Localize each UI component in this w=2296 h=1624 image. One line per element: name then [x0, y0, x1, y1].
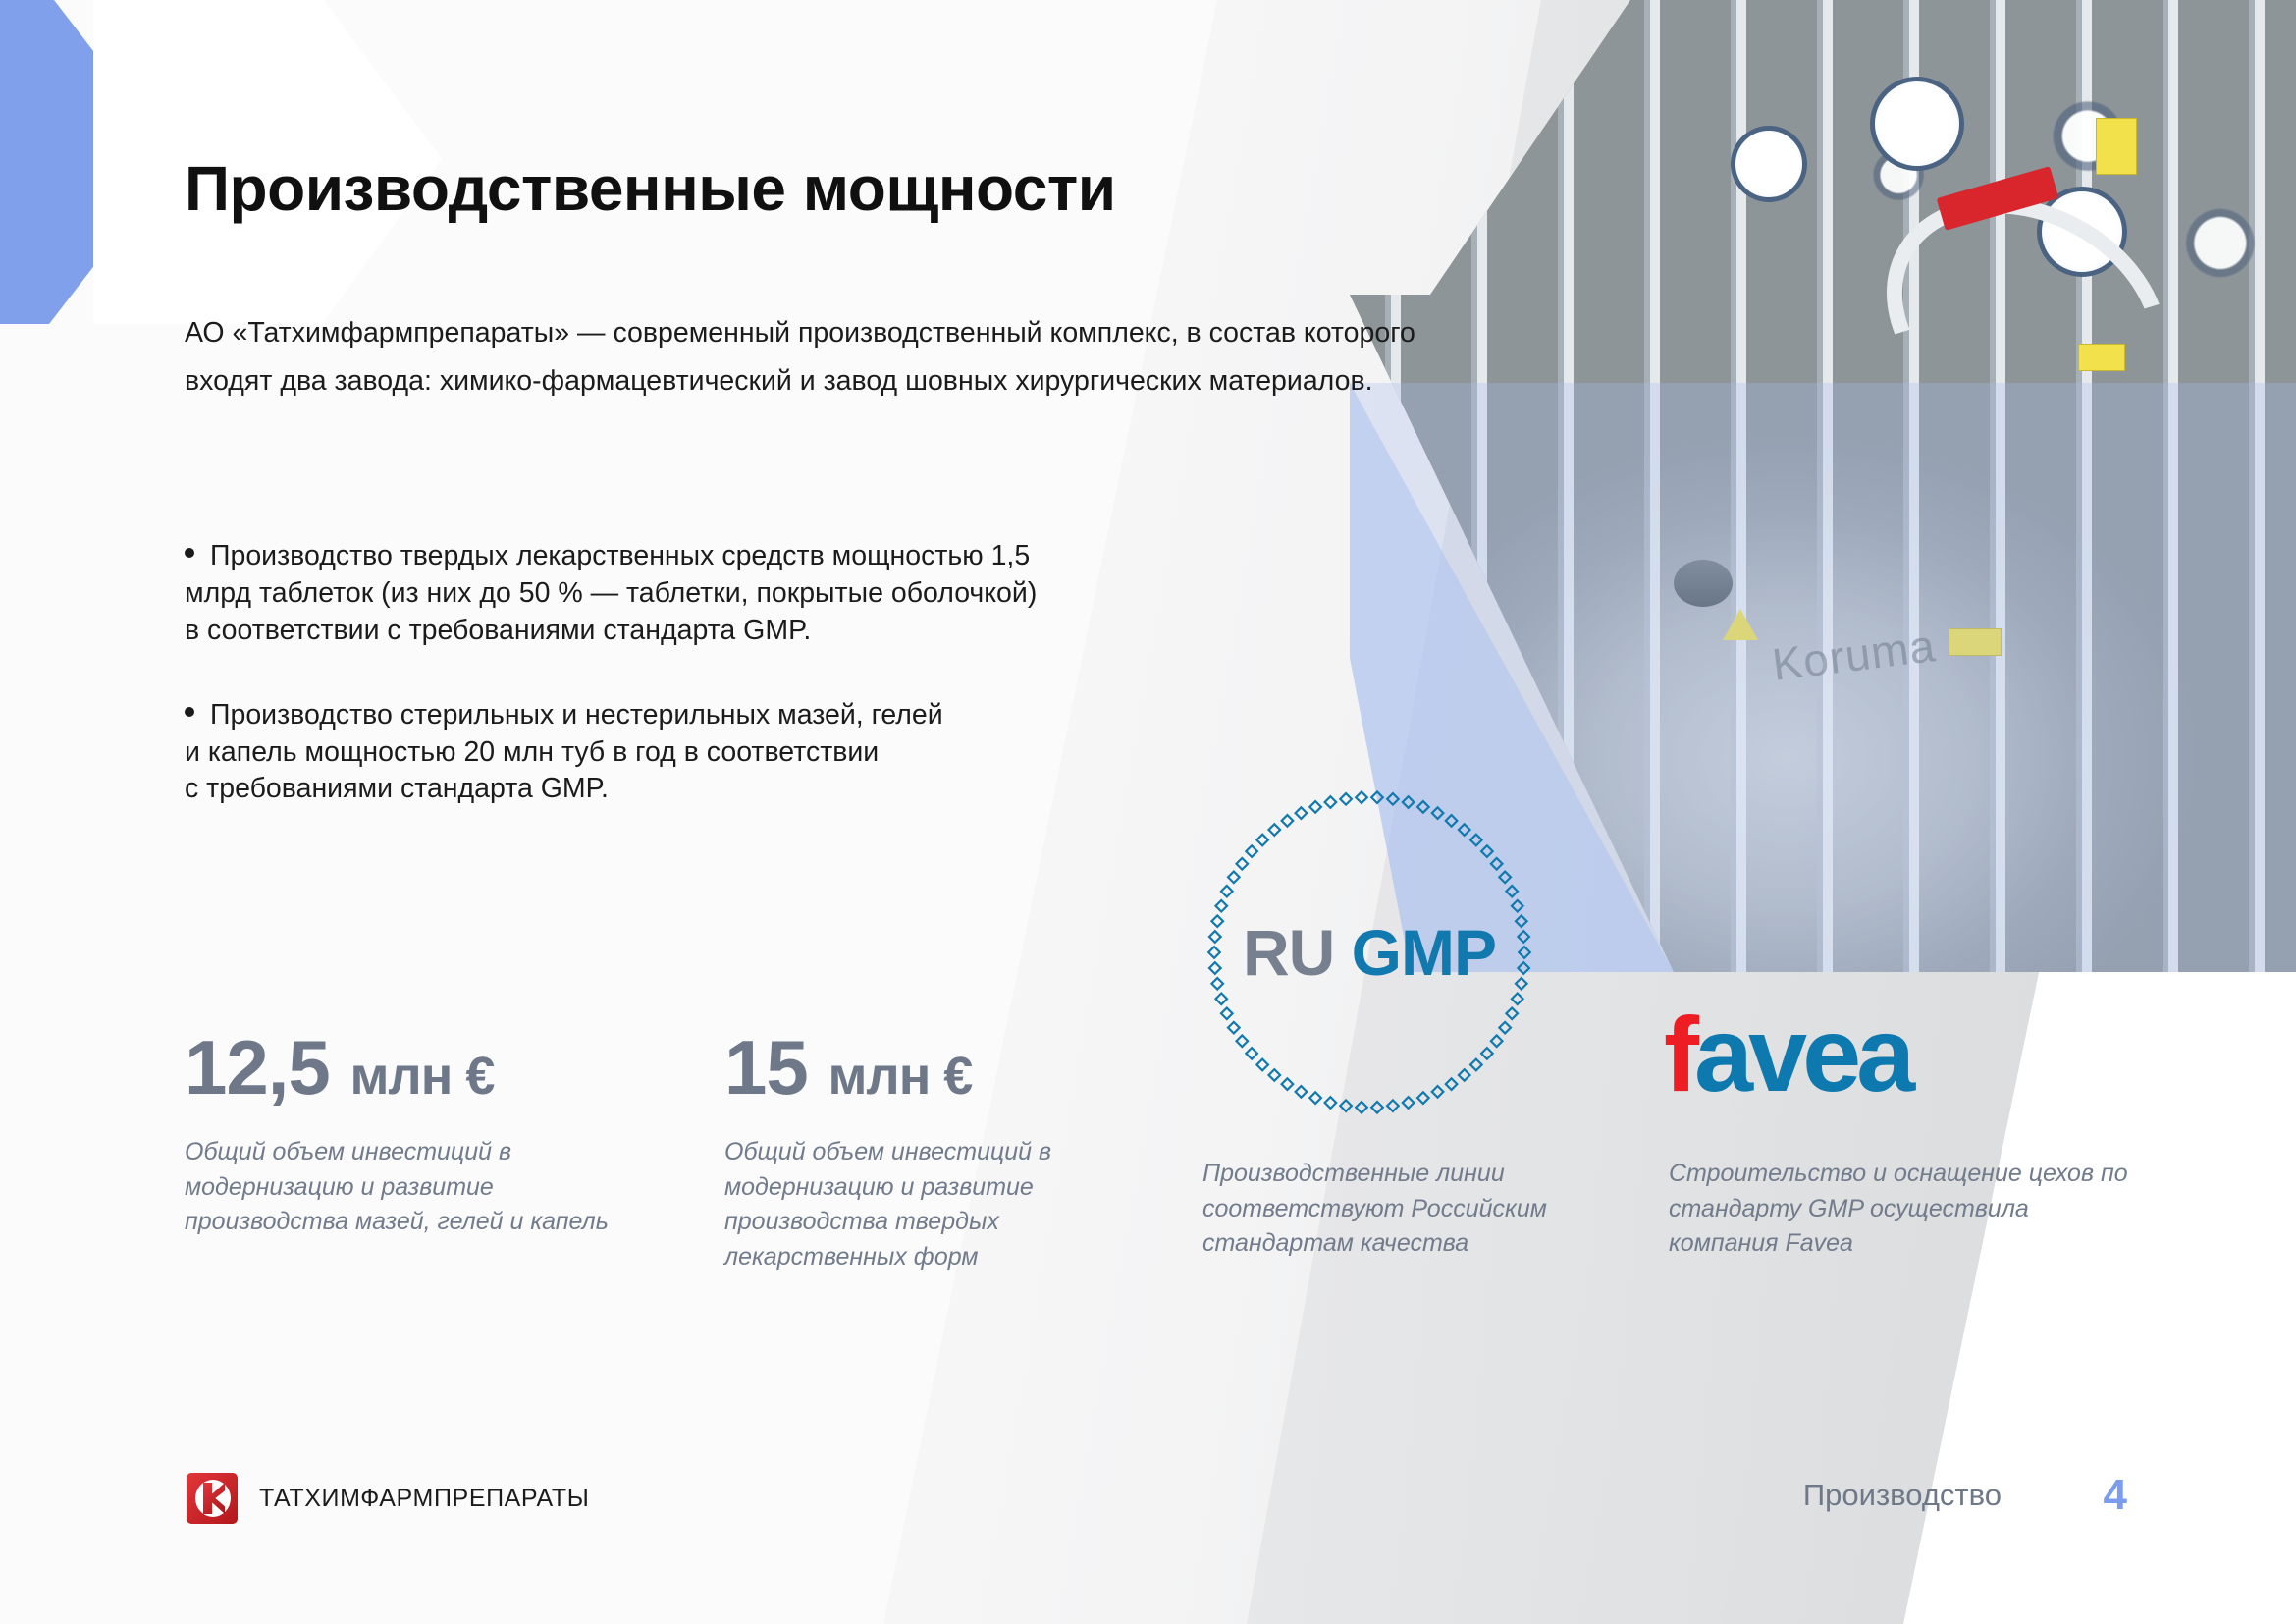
pressure-gauge-icon — [1870, 77, 1964, 171]
stat-block-investment-ointments: 12,5 млн € Общий объем инвестиций в моде… — [185, 1029, 616, 1240]
stat-caption: Общий объем инвестиций в модернизацию и … — [724, 1135, 1117, 1274]
ru-gmp-badge: RU GMP — [1202, 785, 1536, 1119]
warning-triangle-icon — [1723, 609, 1758, 640]
stat-value: 15 млн € — [724, 1029, 1117, 1106]
bullet-text: Производство твердых лекарственных средс… — [210, 540, 1030, 571]
bullet-line: с требованиями стандарта GMP. — [185, 771, 1166, 808]
list-item: Производство твердых лекарственных средс… — [185, 538, 1166, 650]
footer-section-label: Производство — [1803, 1478, 2002, 1513]
bullet-line: Производство стерильных и нестерильных м… — [185, 697, 1166, 734]
gmp-ru-text: RU — [1243, 916, 1334, 989]
vessel-knob — [1674, 560, 1733, 607]
stat-number: 12,5 — [185, 1024, 330, 1110]
equipment-brand-label: Koruma — [1769, 619, 1938, 691]
stat-block-investment-solid-forms: 15 млн € Общий объем инвестиций в модерн… — [724, 1029, 1117, 1274]
page-title: Производственные мощности — [185, 152, 1116, 225]
intro-paragraph: АО «Татхимфармпрепараты» — современный п… — [185, 309, 1431, 406]
favea-caption: Строительство и оснащение цехов по станд… — [1669, 1157, 2140, 1262]
gmp-badge-text: RU GMP — [1243, 915, 1496, 990]
yellow-tag — [2078, 344, 2125, 371]
list-item: Производство стерильных и нестерильных м… — [185, 697, 1166, 809]
favea-logo-f: f — [1664, 995, 1694, 1113]
page-number: 4 — [2104, 1471, 2127, 1520]
bullet-list: Производство твердых лекарственных средс… — [185, 538, 1166, 855]
footer-company-logo: ТАТХИМФАРМПРЕПАРАТЫ — [187, 1473, 589, 1524]
pressure-gauge-icon — [1731, 126, 1807, 202]
stat-value: 12,5 млн € — [185, 1029, 616, 1106]
yellow-tag — [2096, 118, 2137, 175]
stat-number: 15 — [724, 1024, 808, 1110]
stat-unit: млн € — [828, 1047, 972, 1106]
bullet-text: Производство стерильных и нестерильных м… — [210, 699, 943, 731]
stat-caption: Общий объем инвестиций в модернизацию и … — [185, 1135, 616, 1240]
footer-brand-name: ТАТХИМФАРМПРЕПАРАТЫ — [259, 1485, 589, 1513]
bullet-dot-icon — [185, 548, 194, 558]
favea-logo-rest: avea — [1694, 995, 1910, 1113]
bullet-dot-icon — [185, 707, 194, 717]
yellow-tag — [1949, 628, 2002, 656]
bullet-line: Производство твердых лекарственных средс… — [185, 538, 1166, 575]
bullet-line: млрд таблеток (из них до 50 % — таблетки… — [185, 575, 1166, 613]
bullet-line: в соответствии с требованиями стандарта … — [185, 613, 1166, 650]
gmp-badge-caption: Производственные линии соответствуют Рос… — [1202, 1157, 1556, 1262]
gmp-gmp-text: GMP — [1352, 916, 1496, 989]
tatchempharm-mark-icon — [187, 1473, 238, 1524]
bullet-line: и капель мощностью 20 млн туб в год в со… — [185, 734, 1166, 772]
favea-logo: favea — [1664, 1001, 1910, 1108]
presentation-slide: Koruma Производственные мощности АО «Тат… — [0, 0, 2296, 1624]
stat-unit: млн € — [349, 1047, 494, 1106]
